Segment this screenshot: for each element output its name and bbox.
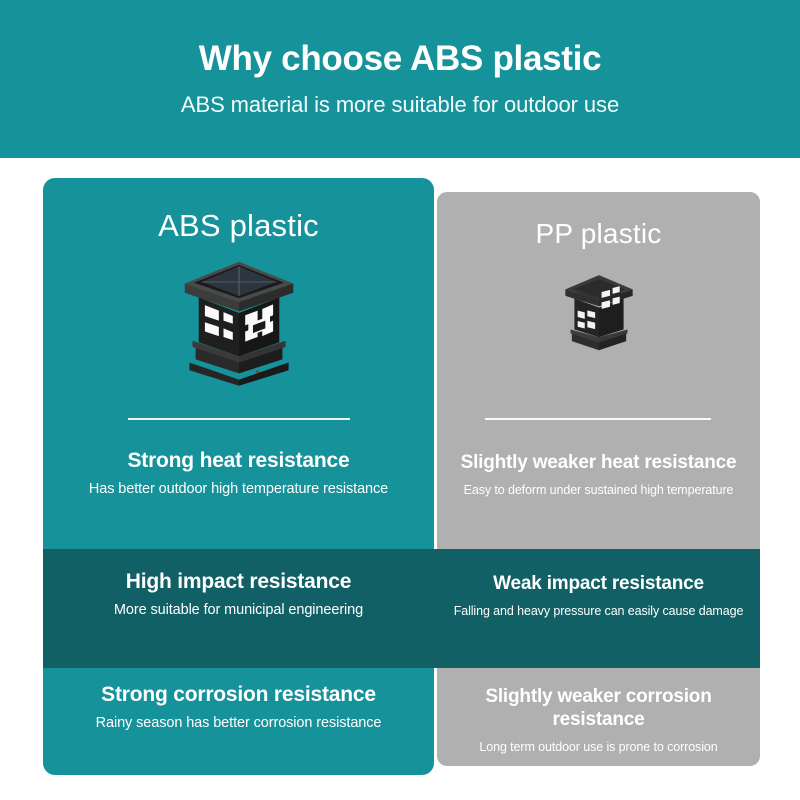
comparison-cards: PP plastic bbox=[0, 0, 800, 800]
row-impact-pp-title: Weak impact resistance bbox=[437, 573, 760, 596]
row-heat-abs-title: Strong heat resistance bbox=[43, 448, 434, 473]
row-corrosion-abs-title: Strong corrosion resistance bbox=[43, 682, 434, 707]
row-impact-band: High impact resistance More suitable for… bbox=[43, 549, 760, 668]
row-heat-pp-sub: Easy to deform under sustained high temp… bbox=[437, 483, 760, 497]
row-impact-abs-title: High impact resistance bbox=[43, 569, 434, 594]
product-image-pp bbox=[437, 264, 760, 364]
solar-post-light-abs-icon bbox=[177, 257, 301, 389]
product-image-abs bbox=[43, 258, 434, 388]
row-corrosion-pp-title: Slightly weaker corrosion resistance bbox=[437, 686, 760, 732]
card-pp-title: PP plastic bbox=[437, 218, 760, 250]
row-corrosion-abs: Strong corrosion resistance Rainy season… bbox=[43, 682, 434, 731]
row-impact-abs: High impact resistance More suitable for… bbox=[43, 569, 434, 618]
divider-abs bbox=[128, 418, 350, 420]
row-corrosion-abs-sub: Rainy season has better corrosion resist… bbox=[43, 715, 434, 731]
row-heat-abs-sub: Has better outdoor high temperature resi… bbox=[43, 481, 434, 497]
row-impact-pp: Weak impact resistance Falling and heavy… bbox=[437, 573, 760, 618]
row-heat-pp-title: Slightly weaker heat resistance bbox=[437, 452, 760, 475]
row-impact-abs-sub: More suitable for municipal engineering bbox=[43, 602, 434, 618]
row-heat-pp: Slightly weaker heat resistance Easy to … bbox=[437, 452, 760, 497]
row-corrosion-pp-sub: Long term outdoor use is prone to corros… bbox=[437, 740, 760, 754]
infographic-page: Why choose ABS plastic ABS material is m… bbox=[0, 0, 800, 800]
row-heat-abs: Strong heat resistance Has better outdoo… bbox=[43, 448, 434, 497]
divider-pp bbox=[485, 418, 711, 420]
row-corrosion-pp: Slightly weaker corrosion resistance Lon… bbox=[437, 686, 760, 754]
card-abs-title: ABS plastic bbox=[43, 208, 434, 244]
row-impact-pp-sub: Falling and heavy pressure can easily ca… bbox=[437, 604, 760, 618]
solar-post-light-pp-icon bbox=[560, 270, 638, 358]
